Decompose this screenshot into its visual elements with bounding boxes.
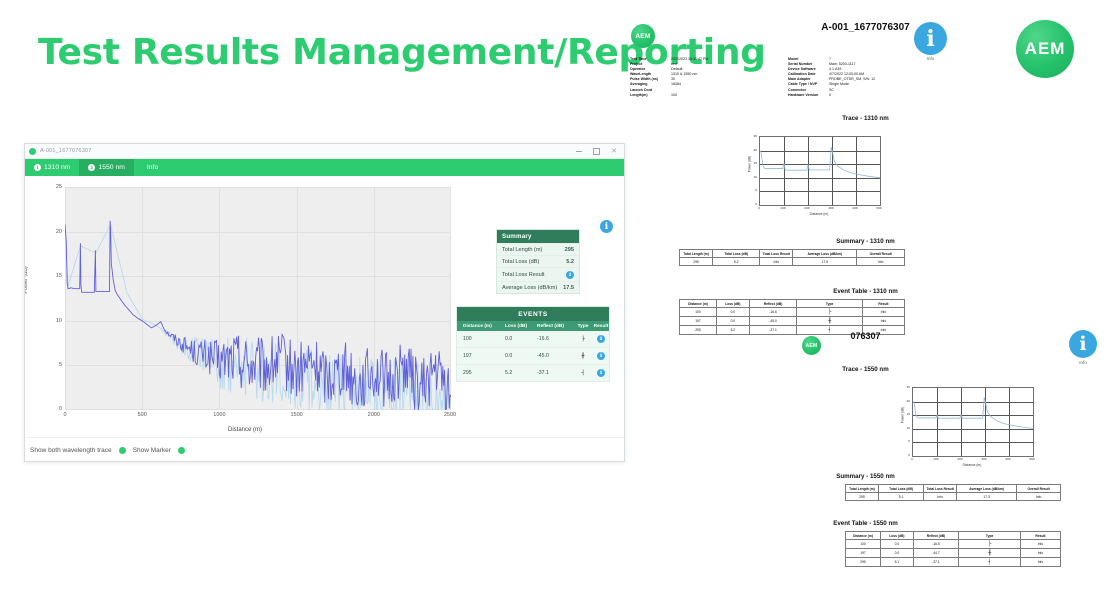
cell-reflect: -45.0 [749, 317, 797, 326]
mini-xtick: 500 [1029, 457, 1034, 461]
table-row: 100 0.0 -16.6 ├ Info [680, 308, 905, 317]
event-reflect: -37.1 [537, 370, 573, 376]
summary-value: 17.5 [563, 285, 574, 291]
cell-reflect: -37.1 [913, 558, 959, 567]
col-reflect: Reflect (dB) [913, 532, 959, 540]
event-result-info-icon[interactable]: i [597, 335, 605, 343]
chart-ytick: 10 [56, 318, 62, 324]
cell-distance: 100 [680, 308, 717, 317]
report-meta-right: Model7 Serial NumberMain: 5200-1117 Devi… [788, 57, 875, 98]
summary-1310-title: Summary - 1310 nm [624, 238, 1107, 245]
table-row: 197 0.0 -44.7 ╫ Info [846, 549, 1061, 558]
trace-line-series [65, 187, 451, 410]
app-content-area: Power (dB) 0 5 10 15 20 25 [25, 176, 624, 462]
events-col-type: Type [573, 324, 593, 329]
event-loss: 0.0 [505, 336, 537, 342]
chart-options-bar: Show both wavelength trace Show Marker [25, 437, 624, 462]
event-type-icon: ┤ [988, 560, 991, 565]
event-1550-title: Event Table - 1550 nm [624, 520, 1107, 527]
chart-xtick: 0 [63, 412, 66, 418]
trace-1310-title: Trace - 1310 nm [624, 115, 1107, 122]
mini-x-axis-label: Distance (m) [912, 463, 1032, 467]
event-type-icon: ├ [828, 310, 831, 315]
report-page2-title: 076307 [624, 331, 1107, 341]
info-icon: i [1069, 330, 1097, 358]
events-title: EVENTS [457, 307, 609, 321]
mini-ytick: 25 [901, 385, 910, 389]
mini-ytick: 20 [901, 399, 910, 403]
event-loss: 0.0 [505, 353, 537, 359]
mini-ytick: 15 [748, 161, 757, 165]
cell-overall-result: Info [1017, 493, 1061, 501]
mini-ytick: 10 [901, 426, 910, 430]
summary-label: Total Loss Result [502, 272, 545, 278]
chart-y-axis-label: Power (dB) [24, 266, 29, 294]
info-help-icon[interactable]: i [600, 220, 613, 233]
chart-ytick: 20 [56, 229, 62, 235]
mini-ytick: 15 [901, 412, 910, 416]
wavelength-tabbar: i 1310 nm i 1550 nm Info [25, 159, 624, 176]
info-icon-caption: Info [1069, 360, 1097, 365]
event-loss: 5.2 [505, 370, 537, 376]
tab-1550nm[interactable]: i 1550 nm [79, 159, 133, 176]
mini-x-axis-label: Distance (m) [759, 212, 879, 216]
trace-1310-chart: Power (dB) Distance (m) 0 5 10 15 20 25 … [719, 132, 959, 222]
mini-ytick: 0 [748, 202, 757, 206]
cell-average-loss: 17.5 [793, 258, 857, 266]
event-type-icon: ╫ [828, 319, 831, 324]
cell-result: Info [1020, 549, 1060, 558]
event-distance: 100 [457, 336, 505, 342]
summary-1550-title: Summary - 1550 nm [624, 473, 1107, 480]
mini-xtick: 0 [911, 457, 913, 461]
report-meta-left: Test Time2/22/2023 10:31:47 PM Projectce… [630, 57, 708, 98]
mini-xtick: 500 [876, 206, 881, 210]
summary-label: Total Length (m) [502, 247, 542, 253]
col-result: Result [1020, 532, 1060, 540]
cell-overall-result: Info [857, 258, 905, 266]
chart-ytick: 15 [56, 273, 62, 279]
chart-xtick: 1000 [213, 412, 225, 418]
event-reflect: -16.6 [537, 336, 573, 342]
table-row: 295 5.2 Info 17.5 Info [680, 258, 905, 266]
col-overall-result: Overall Result [1017, 485, 1061, 493]
table-header-row: Total Length (m) Total Loss (dB) Total L… [846, 485, 1061, 493]
mini-ytick: 5 [748, 188, 757, 192]
mini-ytick: 25 [748, 134, 757, 138]
mini-xtick: 300 [981, 457, 986, 461]
mini-xtick: 100 [933, 457, 938, 461]
tab-1310nm[interactable]: i 1310 nm [25, 159, 79, 176]
summary-label: Average Loss (dB/km) [502, 285, 557, 291]
col-distance: Distance (m) [680, 300, 717, 308]
summary-value: 295 [565, 247, 574, 253]
chart-xtick: 2000 [368, 412, 380, 418]
events-col-distance: Distance (m) [457, 324, 505, 329]
events-column-headers: Distance (m) Loss (dB) Reflect (dB) Type… [457, 321, 609, 331]
col-total-loss: Total Loss (dB) [713, 250, 760, 258]
pdf-report-preview: AEM A-001_1677076307 i Info AEM Test Tim… [624, 0, 1107, 589]
event-type-icon: ├ [988, 542, 991, 547]
mini-xtick: 200 [804, 206, 809, 210]
maximize-icon[interactable] [593, 148, 600, 155]
window-titlebar: A-001_1677076307 ✕ [25, 144, 624, 159]
summary-label: Total Loss (dB) [502, 259, 539, 265]
summary-1310-table: Total Length (m) Total Loss (dB) Total L… [679, 249, 905, 266]
mini-xtick: 400 [1005, 457, 1010, 461]
summary-panel: Summary Total Length (m) 295 Total Loss … [496, 229, 580, 294]
cell-total-loss: 5.2 [713, 258, 760, 266]
cell-distance: 100 [846, 540, 881, 549]
summary-value: 5.2 [566, 259, 574, 265]
cell-distance: 197 [846, 549, 881, 558]
chart-xtick: 500 [138, 412, 147, 418]
cell-total-loss: 5.1 [878, 493, 923, 501]
summary-row-total-length: Total Length (m) 295 [497, 243, 579, 255]
table-row: 100 0.0 -16.6 ├ Info [846, 540, 1061, 549]
event-1310-table: Distance (m) Loss (dB) Reflect (dB) Type… [679, 299, 905, 335]
meta-key: Hardware Version [788, 93, 824, 98]
table-header-row: Distance (m) Loss (dB) Reflect (dB) Type… [680, 300, 905, 308]
event-type-icon: ╫ [581, 354, 584, 359]
col-total-length: Total Length (m) [846, 485, 879, 493]
cell-distance: 295 [846, 558, 881, 567]
chart-x-axis-label: Distance (m) [34, 427, 456, 433]
events-col-reflect: Reflect (dB) [537, 324, 573, 329]
cell-loss: 0.0 [716, 317, 749, 326]
col-result: Result [862, 300, 904, 308]
cell-result: Info [862, 308, 904, 317]
cell-result: Info [1020, 540, 1060, 549]
window-title: A-001_1677076307 [40, 148, 576, 154]
event-type-icon: ┤ [581, 371, 584, 376]
meta-value: 0 [829, 93, 875, 98]
tab-info-label: Info [147, 164, 158, 171]
chart-ytick: 0 [59, 406, 62, 412]
col-total-loss-result: Total Loss Result [924, 485, 957, 493]
trace-line [760, 137, 880, 205]
event-type-icon: ├ [581, 337, 584, 342]
events-col-loss: Loss (dB) [505, 324, 537, 329]
info-badge-icon: i [34, 164, 41, 171]
event-1310-title: Event Table - 1310 nm [624, 288, 1107, 295]
minimize-icon[interactable] [576, 151, 582, 152]
cell-result: Info [1020, 558, 1060, 567]
trace-1550-chart: Power (dB) Distance (m) 0 5 10 15 20 25 … [872, 383, 1107, 473]
cell-total-loss-result: Info [760, 258, 793, 266]
cell-total-length: 295 [846, 493, 879, 501]
event-distance: 197 [457, 353, 505, 359]
events-col-result: Result [593, 324, 609, 329]
otdr-app-window: A-001_1677076307 ✕ i 1310 nm i 1550 nm I… [24, 143, 625, 462]
event-type-icon: ╫ [988, 551, 991, 556]
mini-xtick: 300 [828, 206, 833, 210]
table-row: 197 0.0 -45.0 ╫ Info [680, 317, 905, 326]
trace-1550-title: Trace - 1550 nm [624, 366, 1107, 373]
meta-key: Length(m) [630, 93, 666, 98]
event-result-info-icon[interactable]: i [597, 352, 605, 360]
cell-loss: 0.0 [716, 308, 749, 317]
mini-xtick: 400 [852, 206, 857, 210]
aem-logo-large: AEM [1016, 20, 1074, 78]
summary-1550-table: Total Length (m) Total Loss (dB) Total L… [845, 484, 1061, 501]
col-type: Type [797, 300, 862, 308]
summary-title: Summary [497, 230, 579, 243]
event-result-info-icon[interactable]: i [597, 369, 605, 377]
meta-value: 100 [671, 93, 708, 98]
chart-plot-area[interactable]: 0 5 10 15 20 25 0 500 1000 1500 2000 250… [65, 187, 451, 410]
info-icon-caption: Info [914, 56, 947, 61]
table-header-row: Total Length (m) Total Loss (dB) Total L… [680, 250, 905, 258]
summary-row-total-loss-result: Total Loss Result i [497, 267, 579, 281]
chart-xtick: 1500 [290, 412, 302, 418]
mini-ytick: 5 [901, 439, 910, 443]
col-distance: Distance (m) [846, 532, 881, 540]
col-loss: Loss (dB) [716, 300, 749, 308]
table-row[interactable]: 100 0.0 -16.6 ├ i [457, 331, 609, 348]
app-icon [29, 148, 36, 155]
cell-loss: 5.1 [881, 558, 914, 567]
col-loss: Loss (dB) [881, 532, 914, 540]
show-marker-label: Show Marker [133, 447, 171, 454]
mini-xtick: 200 [957, 457, 962, 461]
show-marker-toggle[interactable] [178, 447, 185, 454]
close-icon[interactable]: ✕ [611, 148, 617, 155]
table-row: 295 5.1 -37.1 ┤ Info [846, 558, 1061, 567]
cell-reflect: -16.6 [913, 540, 959, 549]
table-row: 295 5.1 Info 17.3 Info [846, 493, 1061, 501]
trace-line [913, 388, 1033, 456]
info-badge-icon: i [88, 164, 95, 171]
tab-1550nm-label: 1550 nm [98, 164, 124, 171]
chart-xtick: 2500 [444, 412, 456, 418]
table-header-row: Distance (m) Loss (dB) Reflect (dB) Type… [846, 532, 1061, 540]
tab-info[interactable]: Info [134, 159, 171, 176]
cell-result: Info [862, 317, 904, 326]
col-reflect: Reflect (dB) [749, 300, 797, 308]
col-total-loss: Total Loss (dB) [878, 485, 923, 493]
info-result-icon[interactable]: i [566, 271, 574, 279]
col-type: Type [959, 532, 1021, 540]
mini-ytick: 0 [901, 453, 910, 457]
summary-row-average-loss: Average Loss (dB/km) 17.5 [497, 281, 579, 293]
chart-ytick: 5 [59, 362, 62, 368]
col-overall-result: Overall Result [857, 250, 905, 258]
cell-average-loss: 17.3 [957, 493, 1017, 501]
mini-ytick: 10 [748, 175, 757, 179]
col-average-loss: Average Loss (dB/km) [793, 250, 857, 258]
event-distance: 295 [457, 370, 505, 376]
cell-reflect: -44.7 [913, 549, 959, 558]
otdr-trace-chart: Power (dB) 0 5 10 15 20 25 [34, 181, 456, 436]
chart-ytick: 25 [56, 184, 62, 190]
event-1550-table: Distance (m) Loss (dB) Reflect (dB) Type… [845, 531, 1061, 567]
summary-row-total-loss: Total Loss (dB) 5.2 [497, 255, 579, 267]
info-icon: i [914, 22, 947, 55]
show-both-wavelength-label: Show both wavelength trace [30, 447, 112, 454]
table-row[interactable]: 197 0.0 -45.0 ╫ i [457, 348, 609, 365]
mini-xtick: 100 [780, 206, 785, 210]
tab-1310nm-label: 1310 nm [44, 164, 70, 171]
col-average-loss: Average Loss (dB/km) [957, 485, 1017, 493]
cell-distance: 197 [680, 317, 717, 326]
cell-total-length: 295 [680, 258, 713, 266]
cell-reflect: -16.6 [749, 308, 797, 317]
col-total-loss-result: Total Loss Result [760, 250, 793, 258]
mini-ytick: 20 [748, 148, 757, 152]
table-row[interactable]: 295 5.2 -37.1 ┤ i [457, 365, 609, 381]
cell-loss: 0.0 [881, 540, 914, 549]
show-both-wavelength-toggle[interactable] [119, 447, 126, 454]
col-total-length: Total Length (m) [680, 250, 713, 258]
events-panel: EVENTS Distance (m) Loss (dB) Reflect (d… [456, 306, 610, 382]
cell-loss: 0.0 [881, 549, 914, 558]
cell-total-loss-result: Info [924, 493, 957, 501]
mini-xtick: 0 [758, 206, 760, 210]
event-reflect: -45.0 [537, 353, 573, 359]
